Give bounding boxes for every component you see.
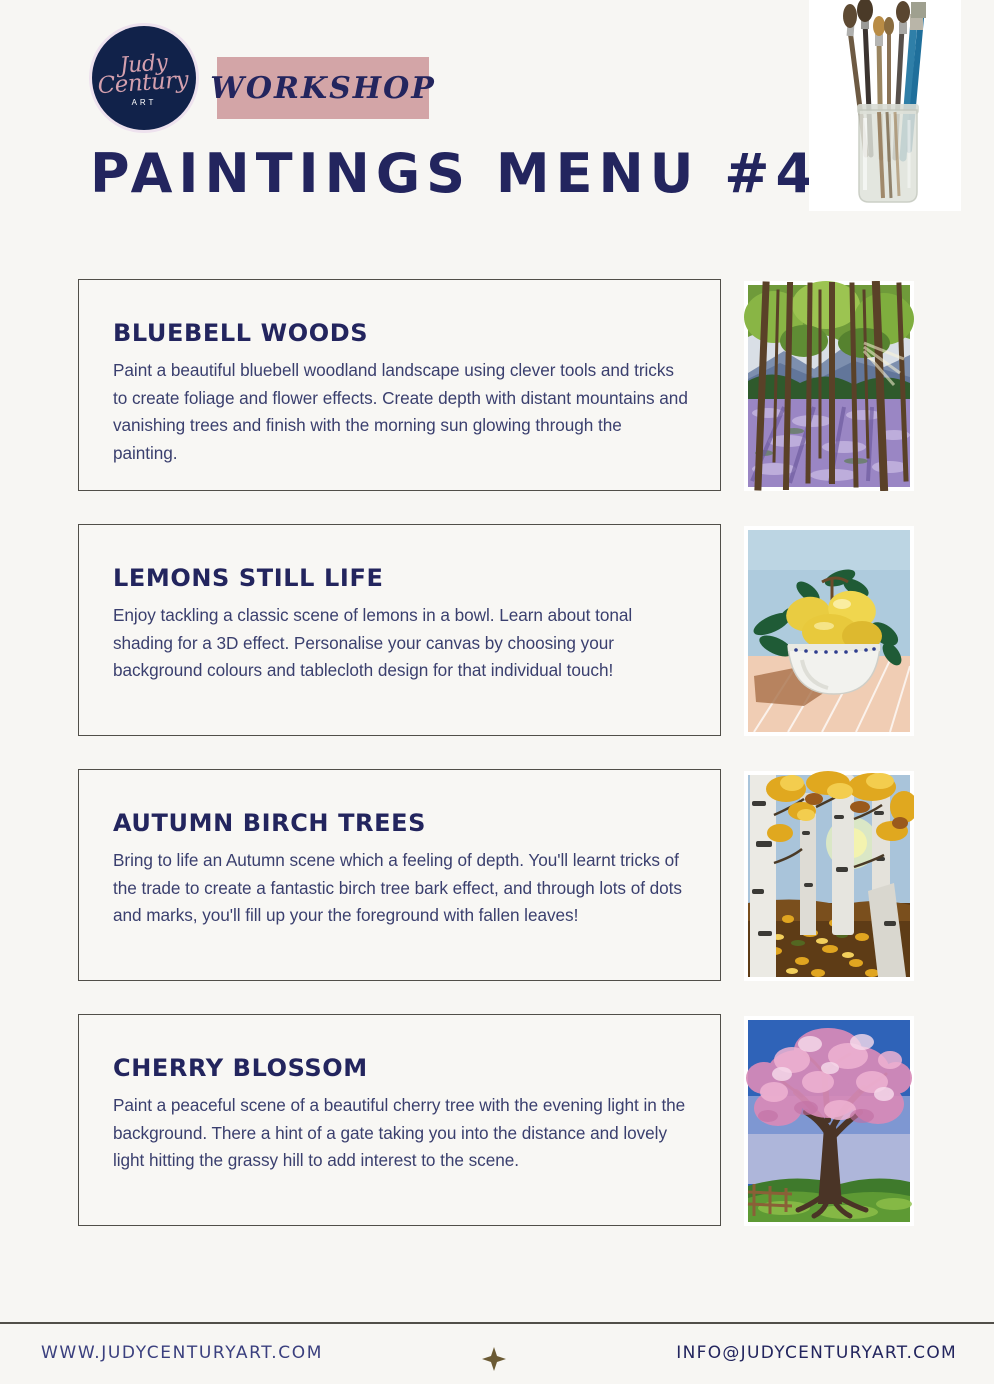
paintbrush-jar-photo bbox=[809, 0, 961, 211]
menu-card[interactable]: CHERRY BLOSSOM Paint a peaceful scene of… bbox=[78, 1014, 721, 1226]
menu-card[interactable]: AUTUMN BIRCH TREES Bring to life an Autu… bbox=[78, 769, 721, 981]
menu-card-thumbnail-lemons-still-life bbox=[744, 526, 914, 736]
header: Judy Century ART WORKSHOP PAINTINGS MENU… bbox=[0, 0, 994, 235]
brand-logo: Judy Century ART bbox=[92, 26, 196, 130]
page-title: PAINTINGS MENU #4 bbox=[90, 142, 819, 205]
menu-card-description: Enjoy tackling a classic scene of lemons… bbox=[113, 602, 688, 685]
footer-email-link[interactable]: INFO@JUDYCENTURYART.COM bbox=[676, 1343, 957, 1363]
menu-card-thumbnail-autumn-birch-trees bbox=[744, 771, 914, 981]
menu-card-thumbnail-bluebell-woods bbox=[744, 281, 914, 491]
footer-website-link[interactable]: WWW.JUDYCENTURYART.COM bbox=[41, 1343, 323, 1363]
menu-card-description: Paint a beautiful bluebell woodland land… bbox=[113, 357, 688, 467]
menu-card[interactable]: BLUEBELL WOODS Paint a beautiful bluebel… bbox=[78, 279, 721, 491]
sparkle-star-icon bbox=[481, 1346, 507, 1372]
menu-card-description: Paint a peaceful scene of a beautiful ch… bbox=[113, 1092, 688, 1175]
menu-card[interactable]: LEMONS STILL LIFE Enjoy tackling a class… bbox=[78, 524, 721, 736]
menu-card-title: AUTUMN BIRCH TREES bbox=[113, 810, 688, 836]
menu-card-title: CHERRY BLOSSOM bbox=[113, 1055, 688, 1081]
menu-card-list: BLUEBELL WOODS Paint a beautiful bluebel… bbox=[0, 279, 994, 1259]
workshop-badge: WORKSHOP bbox=[217, 57, 429, 119]
menu-row: CHERRY BLOSSOM Paint a peaceful scene of… bbox=[0, 1014, 994, 1259]
brand-logo-line2: Century bbox=[97, 71, 189, 96]
menu-card-thumbnail-cherry-blossom bbox=[744, 1016, 914, 1226]
brand-logo-subtitle: ART bbox=[132, 98, 157, 107]
menu-card-title: BLUEBELL WOODS bbox=[113, 320, 688, 346]
menu-row: LEMONS STILL LIFE Enjoy tackling a class… bbox=[0, 524, 994, 769]
poster-page: Judy Century ART WORKSHOP PAINTINGS MENU… bbox=[0, 0, 994, 1384]
workshop-badge-label: WORKSHOP bbox=[210, 71, 436, 106]
menu-card-description: Bring to life an Autumn scene which a fe… bbox=[113, 847, 688, 930]
menu-row: BLUEBELL WOODS Paint a beautiful bluebel… bbox=[0, 279, 994, 524]
menu-row: AUTUMN BIRCH TREES Bring to life an Autu… bbox=[0, 769, 994, 1014]
brand-logo-script: Judy Century bbox=[99, 52, 188, 96]
menu-card-title: LEMONS STILL LIFE bbox=[113, 565, 688, 591]
